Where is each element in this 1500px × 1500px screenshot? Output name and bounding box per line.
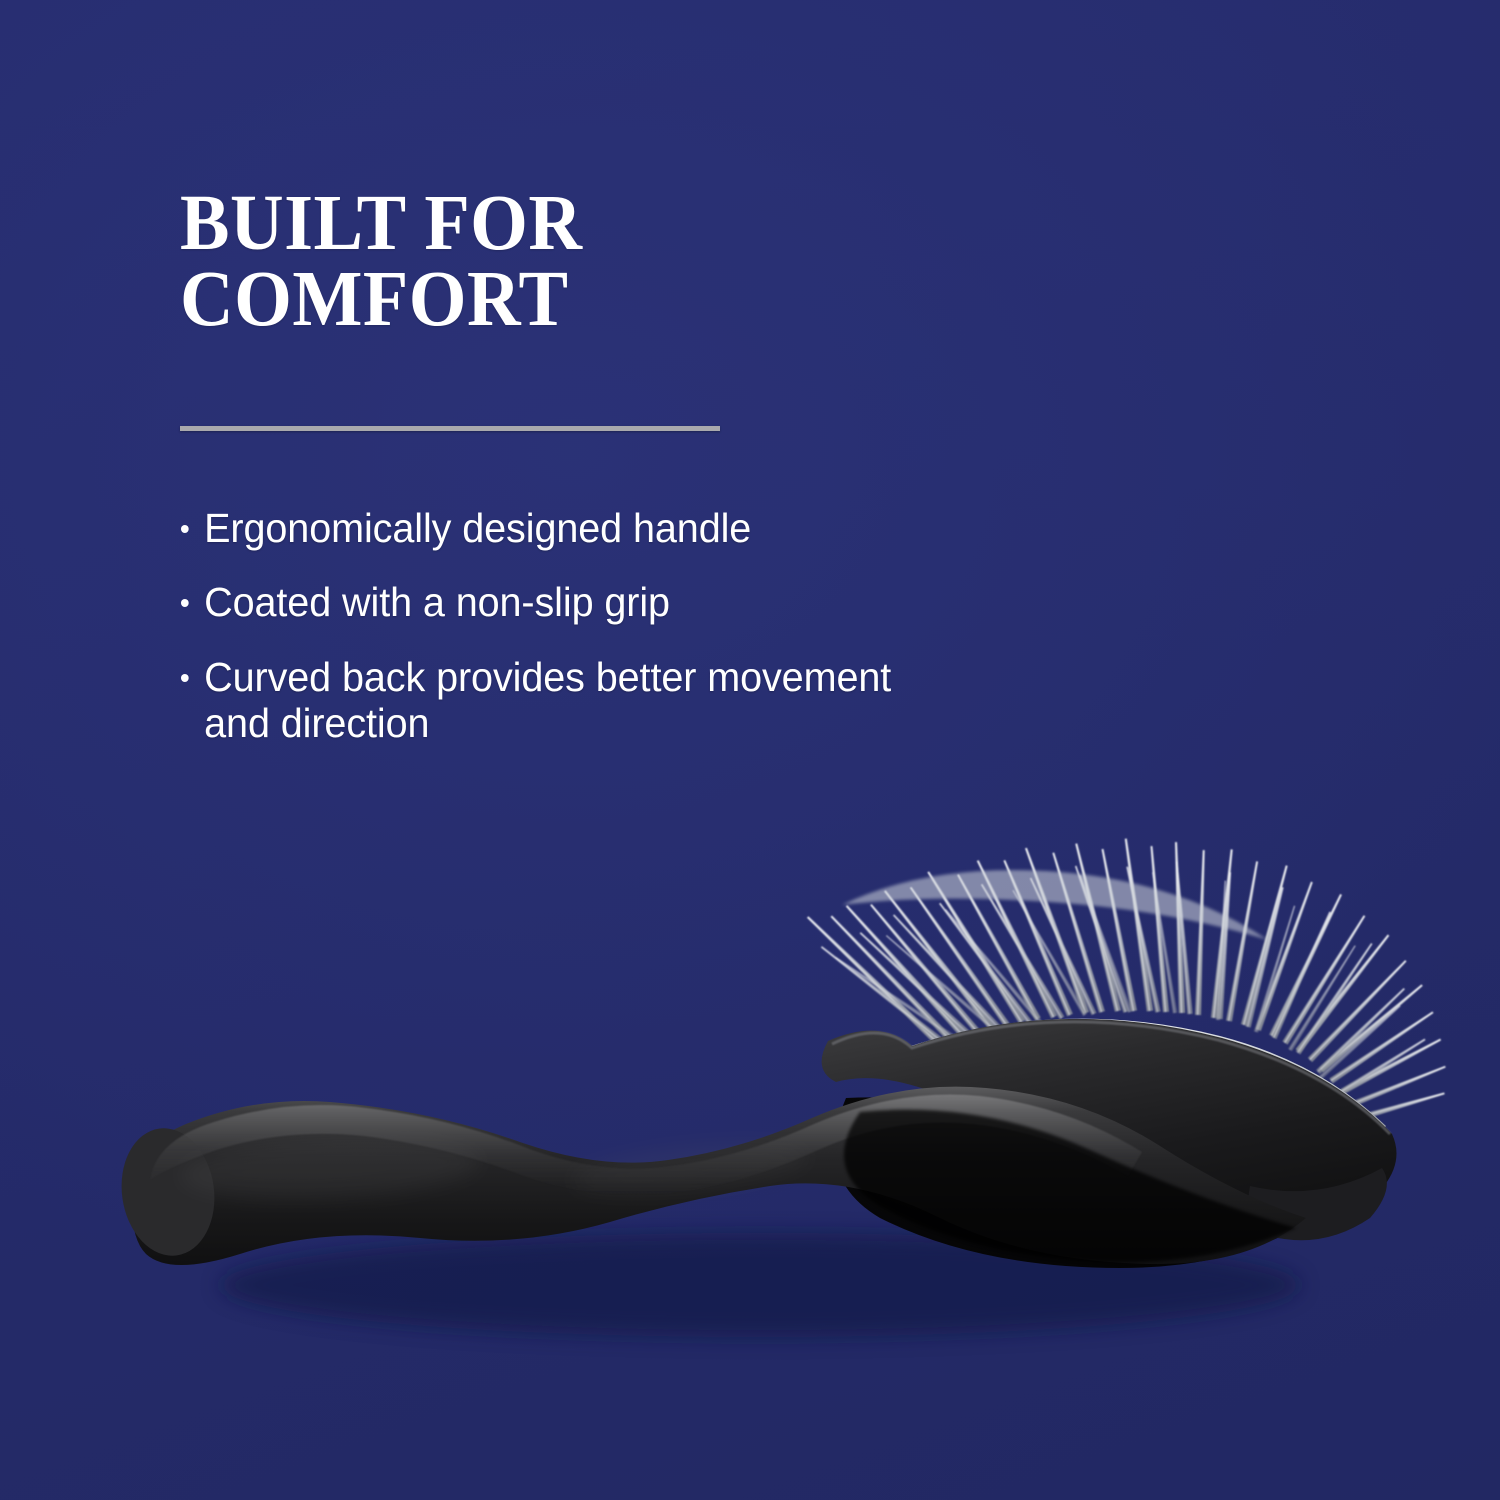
divider-rule — [180, 426, 720, 431]
brush-head-face — [822, 1019, 1397, 1224]
brush-head-underside — [835, 1097, 1300, 1268]
brush-head-tip — [1249, 1168, 1387, 1240]
list-item-label: Ergonomically designed handle — [204, 505, 751, 551]
bristle-pad-band — [905, 1019, 1386, 1152]
handle-sheen — [179, 1130, 482, 1206]
handle-sheen-2 — [568, 1134, 811, 1203]
feature-list: Ergonomically designed handle Coated wit… — [180, 505, 960, 746]
head-edge-highlight — [832, 1022, 1390, 1134]
handle-top-highlight — [150, 1095, 1142, 1196]
marketing-banner: BUILT FOR COMFORT Ergonomically designed… — [0, 0, 1500, 1500]
headline-line-2: COMFORT — [180, 262, 894, 338]
copy-block: BUILT FOR COMFORT — [180, 186, 940, 338]
list-item: Ergonomically designed handle — [180, 505, 933, 551]
brush-bristles — [805, 838, 1446, 1122]
handle-end-cap — [114, 1122, 223, 1262]
bullet-dot-icon — [181, 674, 189, 682]
bullet-dot-icon — [181, 525, 189, 533]
head-contact-shadow — [844, 1110, 1296, 1263]
product-shadow — [220, 1233, 1300, 1337]
bullet-dot-icon — [181, 599, 189, 607]
list-item: Curved back provides better movement and… — [180, 654, 933, 747]
brush-handle — [131, 1087, 1306, 1265]
list-item-label: Coated with a non-slip grip — [204, 579, 670, 625]
page-title: BUILT FOR COMFORT — [180, 186, 894, 338]
headline-line-1: BUILT FOR — [180, 186, 894, 262]
bristle-tip-haze — [842, 870, 1268, 940]
list-item-label: Curved back provides better movement and… — [204, 654, 891, 746]
list-item: Coated with a non-slip grip — [180, 579, 933, 625]
